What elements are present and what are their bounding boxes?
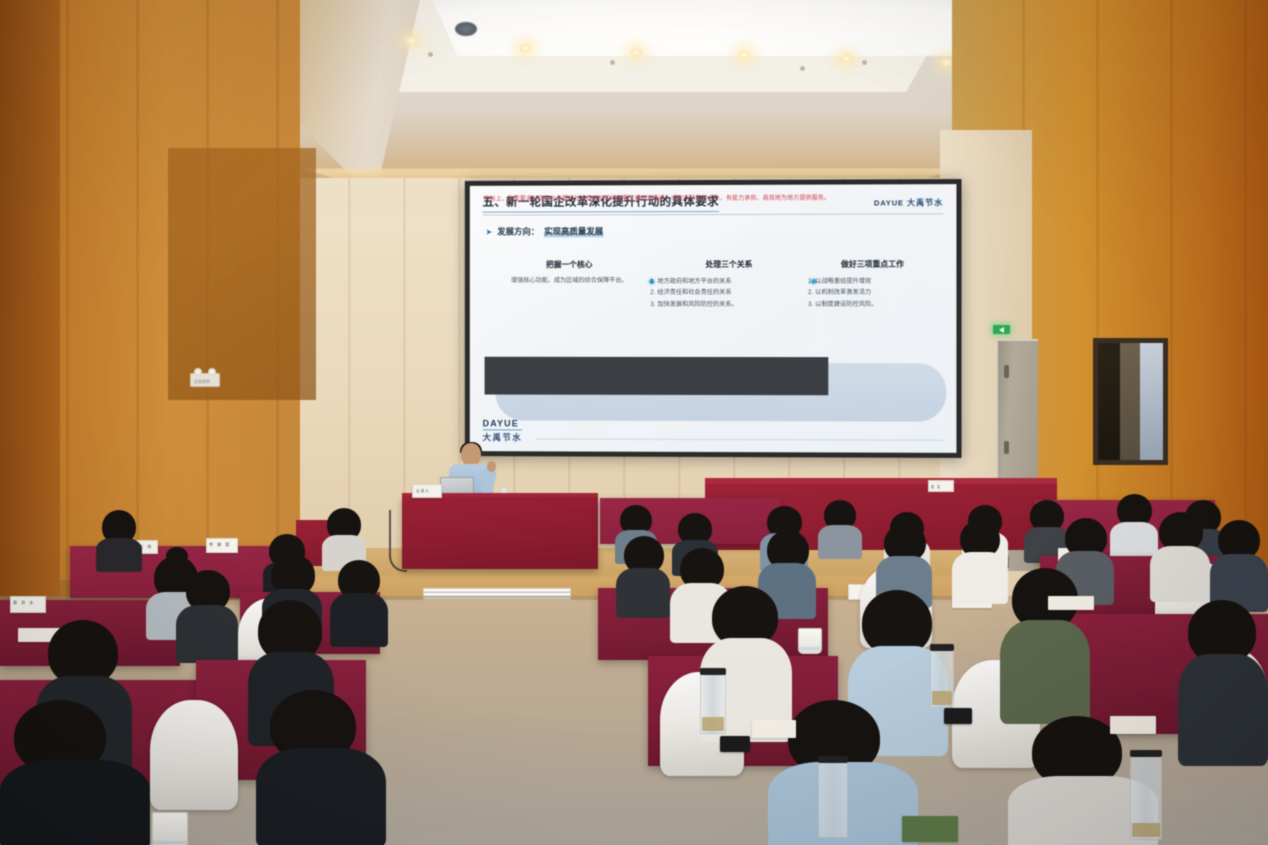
audience-person <box>1150 512 1210 598</box>
audience-person <box>256 690 386 845</box>
downlight-icon <box>405 36 418 45</box>
list-item: 1.以战略重组提升增效 <box>808 276 937 288</box>
subheading-label: 发展方向： <box>497 225 539 237</box>
redaction-bar <box>485 357 829 395</box>
sprinkler-icon <box>610 60 615 65</box>
list-item: 1.地方政府和地方平台的关系 <box>650 276 808 288</box>
audience-person <box>96 510 142 570</box>
slide-column-2: 处理三个关系 1.地方政府和地方平台的关系 2.经济责任和社会责任的关系 3.加… <box>650 259 808 311</box>
notebook <box>1048 596 1094 610</box>
brand-logo-bottom-left: DAYUE 大禹节水 <box>483 418 523 443</box>
notebook <box>752 720 796 738</box>
downlight-icon <box>738 50 751 59</box>
left-wall-edge <box>0 0 60 700</box>
slide-columns: 把握一个核心 增强核心功能、成为区域的综合保障平台。 处理三个关系 1.地方政府… <box>483 259 944 311</box>
column-1-heading: 把握一个核心 <box>489 259 651 270</box>
caret-icon: ➤ <box>486 227 493 236</box>
projection-screen: 五、新一轮国企改革深化提升行动的具体要求 DAYUE 大禹节水 ➤ 发展方向： … <box>470 184 957 453</box>
projection-screen-frame: 五、新一轮国企改革深化提升行动的具体要求 DAYUE 大禹节水 ➤ 发展方向： … <box>465 179 962 458</box>
audience-person <box>176 570 238 662</box>
column-3-list: 1.以战略重组提升增效 2.以机制改革激发活力 3.以制度建设防控风险。 <box>808 276 937 311</box>
list-item: 3.加快发展和风险防控的关系。 <box>650 299 808 311</box>
tea-bottle <box>1130 754 1162 840</box>
slide-column-1: 把握一个核心 增强核心功能、成为区域的综合保障平台。 <box>489 259 651 310</box>
downlight-icon <box>630 48 643 57</box>
list-item: 2.经济责任和社会责任的关系 <box>650 287 808 299</box>
exit-sign-icon <box>993 325 1010 334</box>
slide-footer: DAYUE 大禹节水 <box>483 418 944 444</box>
footer-divider <box>536 438 943 440</box>
presentation-slide: 五、新一轮国企改革深化提升行动的具体要求 DAYUE 大禹节水 ➤ 发展方向： … <box>470 184 957 453</box>
column-2-item-1: 地方政府和地方平台的关系 <box>657 278 731 285</box>
list-item: 3.以制度建设防控风险。 <box>808 299 937 311</box>
wall-window <box>1093 338 1168 465</box>
wall-panel-inset-left <box>168 148 316 400</box>
conference-room-photo: 应急照明 五、新一轮国企改革深化提升行动的具体要求 DAYUE 大禹节水 <box>0 0 1268 845</box>
column-2-item-2: 经济责任和社会责任的关系 <box>657 289 731 296</box>
audience-person <box>1178 600 1268 760</box>
sprinkler-icon <box>800 66 805 71</box>
audience-person <box>322 508 366 568</box>
audience-person <box>0 700 150 845</box>
audience-person <box>616 536 670 614</box>
tea-bottle <box>818 760 848 838</box>
podium <box>402 497 598 569</box>
slide-subheading: ➤ 发展方向： 实现高质量发展 <box>483 224 944 237</box>
subheading-emphasis: 实现高质量发展 <box>544 225 603 237</box>
column-3-item-2: 以机制改革激发活力 <box>815 289 871 296</box>
column-2-item-3: 加快发展和风险防控的关系。 <box>657 301 737 308</box>
sprinkler-icon <box>862 60 867 65</box>
podium-nameplate: 主讲人 <box>412 484 442 498</box>
column-2-heading: 处理三个关系 <box>650 259 808 270</box>
stage-namecard: 姓 名 <box>928 480 954 492</box>
brand-cn-bottom: 大禹节水 <box>483 431 523 443</box>
slide-column-3: 做好三项重点工作 1.以战略重组提升增效 2.以机制改革激发活力 3.以制度建设… <box>808 259 937 311</box>
emergency-light-icon: 应急照明 <box>190 373 220 387</box>
callout-text: 实际上，这是要求公司平台在履行社会责任的同时也要注重经济效益，成为市场化的企业，… <box>484 193 941 206</box>
paper-cup <box>798 628 822 654</box>
audience-person <box>330 560 388 644</box>
chair <box>150 700 238 810</box>
header-divider <box>483 213 944 215</box>
column-3-item-3: 以制度建设防控风险。 <box>815 301 877 308</box>
brand-en-bottom: DAYUE <box>483 418 523 430</box>
notebook <box>1110 716 1156 734</box>
emergency-light-label: 应急照明 <box>194 379 210 385</box>
smartphone[interactable] <box>944 708 972 724</box>
audience-person <box>818 500 862 556</box>
list-item: 2.以机制改革激发活力 <box>808 287 937 299</box>
column-2-list: 1.地方政府和地方平台的关系 2.经济责任和社会责任的关系 3.加快发展和风险防… <box>650 276 808 311</box>
smartphone[interactable] <box>720 736 750 752</box>
microphone-cable <box>389 510 407 572</box>
ceiling-speaker-icon <box>455 22 477 36</box>
column-3-item-1: 以战略重组提升增效 <box>815 278 871 285</box>
paper-cup <box>152 812 188 845</box>
presenter-hand <box>487 461 496 472</box>
tea-bottle <box>930 648 954 708</box>
audience-person <box>1210 520 1268 610</box>
notebook <box>902 816 958 842</box>
sprinkler-icon <box>428 52 433 57</box>
downlight-icon <box>519 44 532 53</box>
namecard: 李 建 国 <box>206 538 238 553</box>
presenter-head <box>461 443 481 466</box>
column-1-body: 增强核心功能、成为区域的综合保障平台。 <box>489 276 651 287</box>
downlight-icon <box>840 54 853 63</box>
tea-bottle <box>700 672 726 734</box>
namecard: 周 洪 水 <box>10 596 46 613</box>
column-3-heading: 做好三项重点工作 <box>808 259 937 270</box>
audience-person <box>1000 568 1090 718</box>
